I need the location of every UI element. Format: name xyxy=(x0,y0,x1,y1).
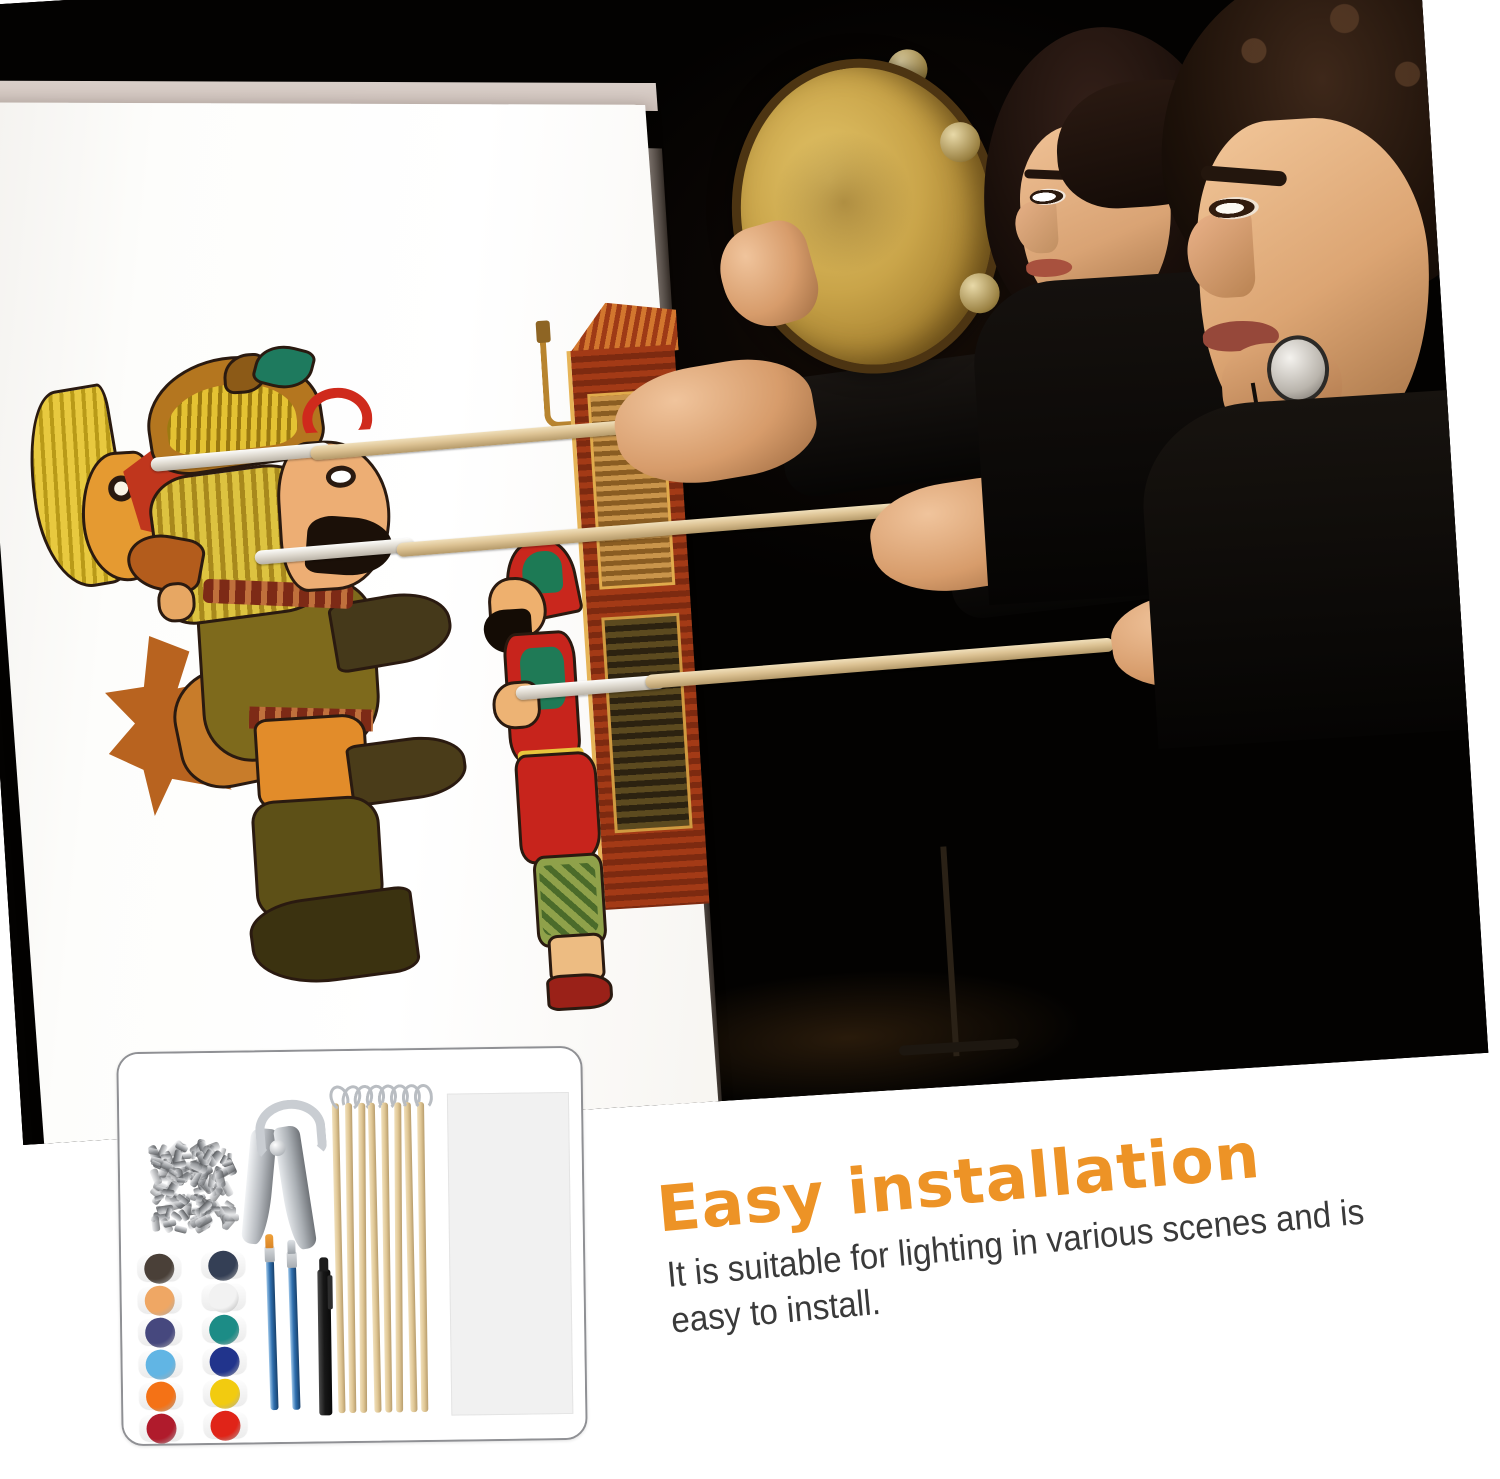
brush-ferrule xyxy=(287,1252,297,1268)
wooden-stick xyxy=(332,1103,346,1413)
paint-pots-column-left xyxy=(137,1251,184,1444)
metal-brads-fasteners xyxy=(137,1137,234,1234)
wooden-stick xyxy=(417,1102,428,1412)
stick-hook-icon xyxy=(414,1084,434,1111)
photo-inner xyxy=(0,0,1488,1145)
paint-pot xyxy=(201,1280,245,1312)
wooden-stick xyxy=(381,1102,392,1412)
wooden-stick xyxy=(358,1103,367,1413)
brush-ferrule xyxy=(264,1246,274,1262)
paint-pot xyxy=(138,1283,182,1315)
caption-block: Easy installation It is suitable for lig… xyxy=(640,1102,1469,1424)
wooden-stick xyxy=(368,1103,382,1413)
man-nose xyxy=(1185,212,1256,300)
paint-brush-thick xyxy=(266,1260,279,1410)
puppet2-shoe xyxy=(546,972,614,1012)
hole-punch-plier xyxy=(237,1099,323,1250)
performer-man xyxy=(1110,0,1488,739)
brad-piece xyxy=(224,1213,239,1221)
puppet2-trouser-pattern xyxy=(539,863,599,936)
puppet-hand xyxy=(156,581,196,623)
wooden-sticks-with-hooks xyxy=(331,1084,436,1415)
brush-bristles xyxy=(287,1240,295,1254)
blank-white-sheet xyxy=(447,1092,573,1416)
paint-pots-column-right xyxy=(201,1248,248,1441)
punch-jaw xyxy=(253,1097,328,1161)
paint-brush-fine xyxy=(288,1266,301,1410)
brad-piece xyxy=(162,1188,175,1196)
wooden-stick xyxy=(345,1103,356,1413)
paint-pot xyxy=(139,1379,183,1411)
kit-stage xyxy=(118,1048,585,1444)
brad-piece xyxy=(161,1153,171,1159)
paint-pot xyxy=(138,1347,182,1379)
main-product-photo xyxy=(0,0,1488,1145)
puppet2-robe xyxy=(514,750,603,865)
paint-pot xyxy=(137,1251,181,1283)
paint-pot xyxy=(202,1344,246,1376)
brad-piece xyxy=(174,1224,187,1233)
man-torso xyxy=(1137,386,1488,749)
paint-pot xyxy=(201,1248,245,1280)
kit-contents-inset xyxy=(116,1046,587,1446)
brush-bristles xyxy=(265,1234,273,1248)
wooden-stick xyxy=(404,1102,418,1412)
paint-pot xyxy=(139,1411,183,1443)
wooden-stick xyxy=(394,1102,403,1412)
paint-pot xyxy=(203,1376,247,1408)
paint-pot xyxy=(202,1312,246,1344)
paint-pot xyxy=(138,1315,182,1347)
marker-clip xyxy=(327,1275,332,1309)
paint-pot xyxy=(203,1408,247,1440)
